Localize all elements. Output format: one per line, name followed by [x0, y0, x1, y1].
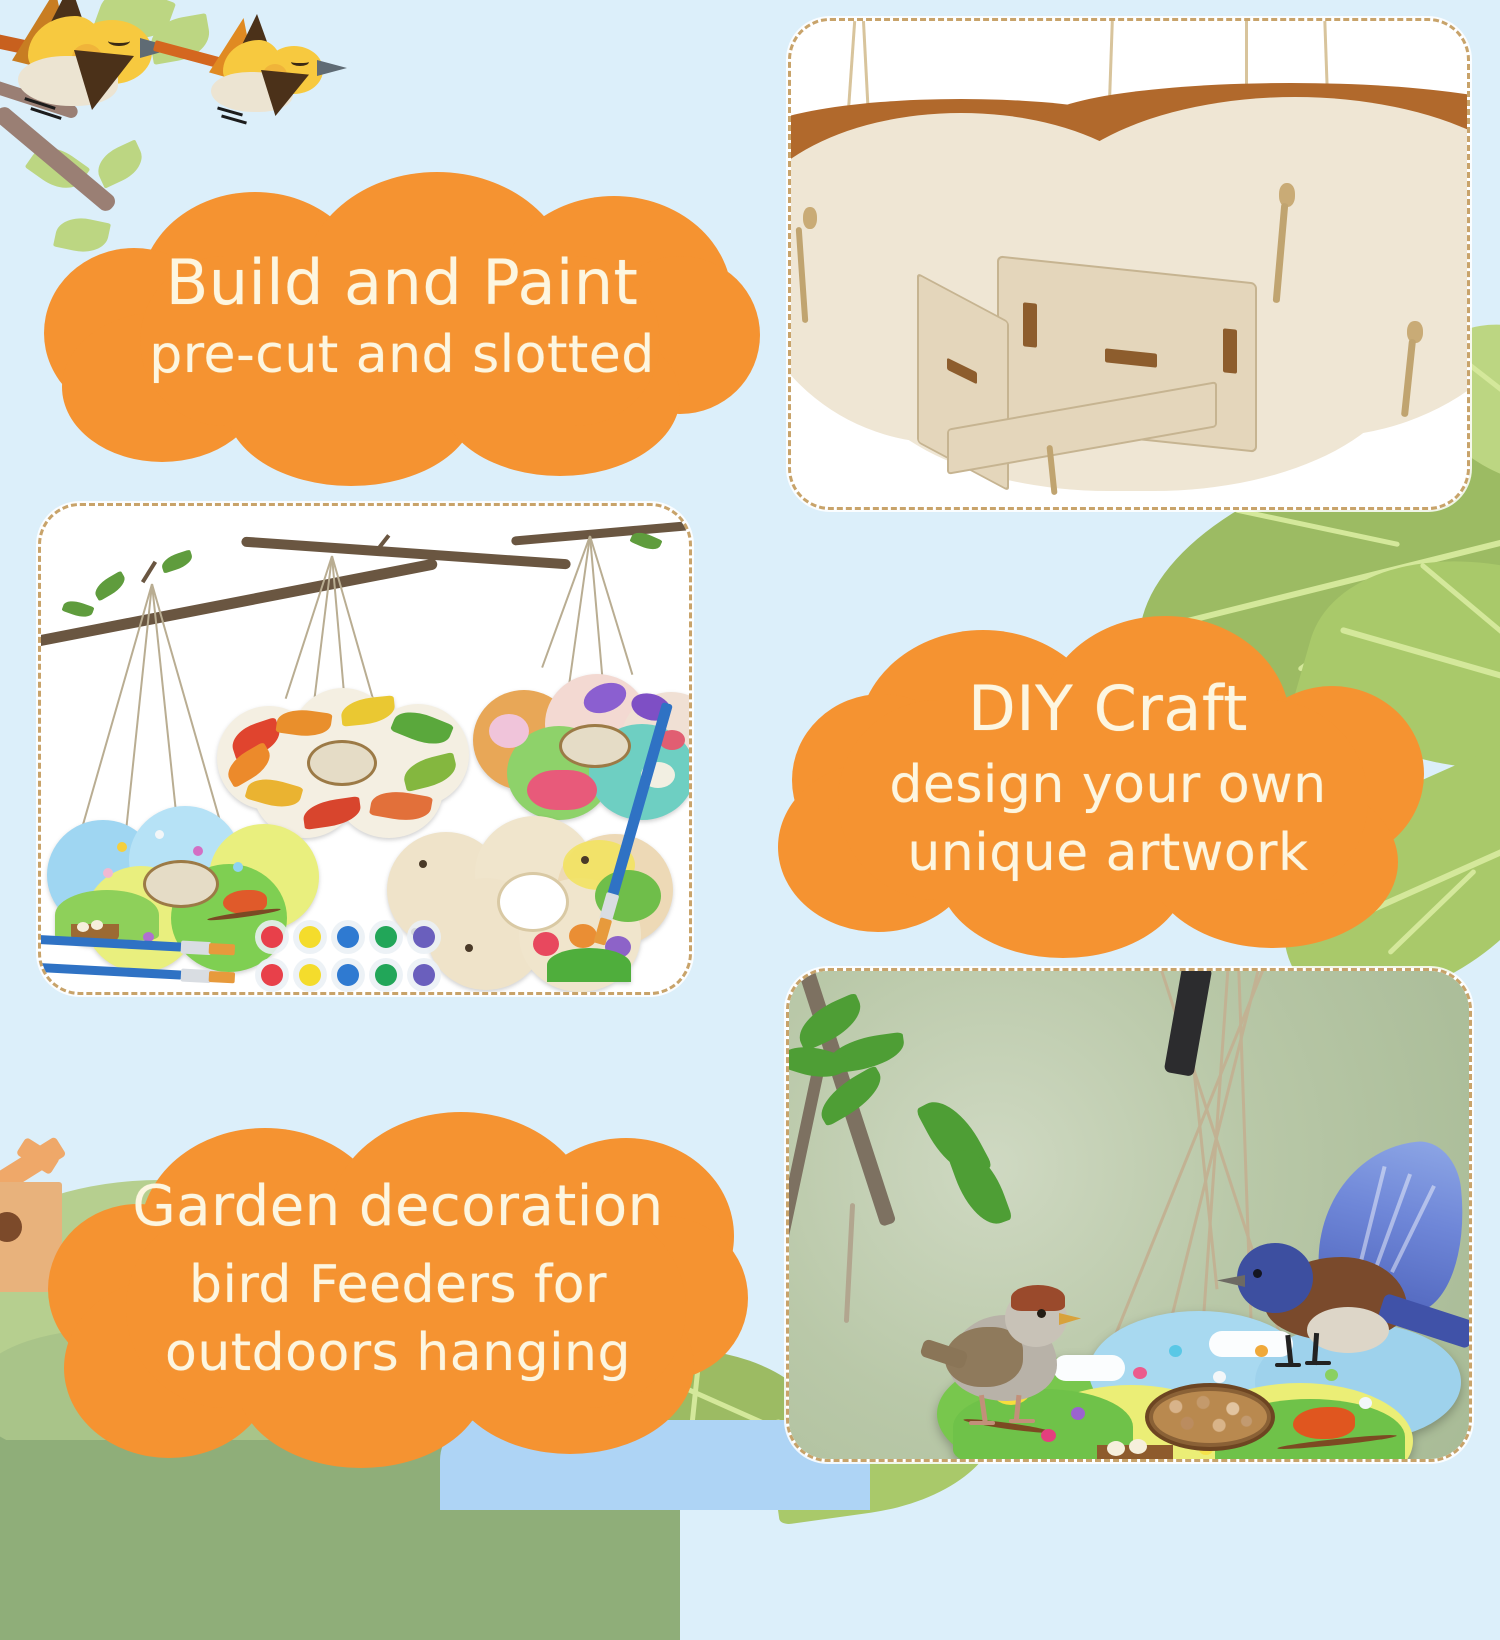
bluebird: [1219, 1151, 1469, 1391]
callout-title: Garden decoration: [48, 1178, 748, 1237]
bird-eye: [291, 58, 309, 66]
paint-pot: [407, 958, 441, 992]
hanging-string: [567, 536, 591, 690]
painted-dot: [1359, 1397, 1372, 1409]
feeder-center-hole: [497, 872, 569, 932]
bird-beak: [317, 60, 347, 76]
paint-pot: [407, 920, 441, 954]
slot-cut: [1223, 328, 1237, 373]
painted-bird: [1293, 1407, 1355, 1439]
photo-painted-feeders[interactable]: [38, 503, 692, 995]
feeder-center-hole: [307, 740, 377, 786]
photo-content: [791, 21, 1467, 507]
paint-pot: [369, 958, 403, 992]
paint-blob: [489, 714, 529, 748]
brush-ferrule: [181, 941, 212, 956]
feeder-center-hole: [559, 724, 631, 768]
bud-leaf: [62, 597, 95, 620]
callout-title: DIY Craft: [778, 676, 1438, 741]
bird-foot: [969, 1421, 995, 1425]
brush-handle: [41, 934, 183, 951]
collage-bird-small: [175, 18, 375, 148]
painted-egg: [1107, 1441, 1125, 1456]
paint-pot: [293, 920, 327, 954]
bird-foot: [1305, 1361, 1331, 1365]
infographic-canvas: Build and Paint pre-cut and slotted: [0, 0, 1500, 1500]
paint-pot: [369, 920, 403, 954]
painted-dot: [103, 868, 113, 878]
branch: [511, 519, 689, 545]
bird-beak: [1059, 1313, 1081, 1325]
paint-pot: [331, 958, 365, 992]
hanging-string: [151, 584, 222, 825]
bird-leg: [30, 107, 61, 120]
brush-bristles: [593, 917, 612, 945]
slot-cut: [1023, 302, 1037, 347]
sparrow: [929, 1271, 1089, 1441]
rope-knot: [803, 207, 817, 229]
slot-mark: [465, 944, 473, 952]
callout-subtitle: bird Feeders for: [48, 1258, 748, 1313]
bird-cap: [1011, 1285, 1065, 1311]
painted-dot: [1133, 1367, 1147, 1379]
twig: [141, 561, 157, 583]
painted-dot: [117, 842, 127, 852]
bud-leaf: [91, 571, 128, 602]
painted-flower: [533, 932, 559, 956]
bird-eye: [1253, 1269, 1262, 1278]
brush-handle: [41, 962, 183, 979]
bird-leg: [221, 114, 247, 124]
slot-mark: [581, 856, 589, 864]
brush-bristles: [209, 943, 236, 955]
callout-subtitle-2: unique artwork: [778, 826, 1438, 881]
branch: [41, 558, 438, 649]
callout-subtitle-2: outdoors hanging: [48, 1326, 748, 1381]
photo-feeder-underside[interactable]: [788, 18, 1470, 510]
hanging-string: [541, 536, 591, 668]
bird-seed: [1153, 1391, 1267, 1443]
callout-subtitle: design your own: [778, 758, 1438, 813]
painted-dot: [233, 862, 243, 872]
brush-bristles: [209, 971, 236, 983]
paint-pot: [293, 958, 327, 992]
bird-eye: [108, 36, 130, 46]
bird-eye: [1037, 1309, 1046, 1318]
painted-dot: [193, 846, 203, 856]
paint-pot: [255, 958, 289, 992]
bird-foot: [1009, 1419, 1035, 1423]
bird-belly: [1307, 1307, 1389, 1353]
callout-diy-craft: DIY Craft design your own unique artwork: [778, 630, 1438, 960]
callout-subtitle: pre-cut and slotted: [44, 328, 760, 383]
feeder-center-hole: [143, 860, 219, 908]
painted-egg: [1129, 1439, 1147, 1454]
photo-content: [41, 506, 689, 992]
slot-mark: [419, 860, 427, 868]
paint-pot: [255, 920, 289, 954]
photo-birds-using-feeder[interactable]: [786, 968, 1472, 1462]
paint-blob: [527, 770, 597, 810]
painted-dot: [155, 830, 164, 839]
painted-dot: [1169, 1345, 1182, 1357]
hanging-string: [285, 556, 333, 699]
paint-pot-row: [255, 920, 445, 956]
bird-beak: [1217, 1275, 1245, 1287]
paint-pot: [331, 920, 365, 954]
callout-garden-decoration: Garden decoration bird Feeders for outdo…: [48, 1128, 748, 1468]
callout-build-and-paint: Build and Paint pre-cut and slotted: [44, 196, 760, 486]
bird-head: [1237, 1243, 1313, 1313]
callout-title: Build and Paint: [44, 250, 760, 315]
painted-egg: [91, 920, 103, 930]
paint-pot-row: [255, 958, 445, 992]
photo-content: [789, 971, 1469, 1459]
bud-leaf: [159, 549, 194, 573]
bird-foot: [1275, 1363, 1301, 1367]
brush-ferrule: [181, 969, 212, 984]
